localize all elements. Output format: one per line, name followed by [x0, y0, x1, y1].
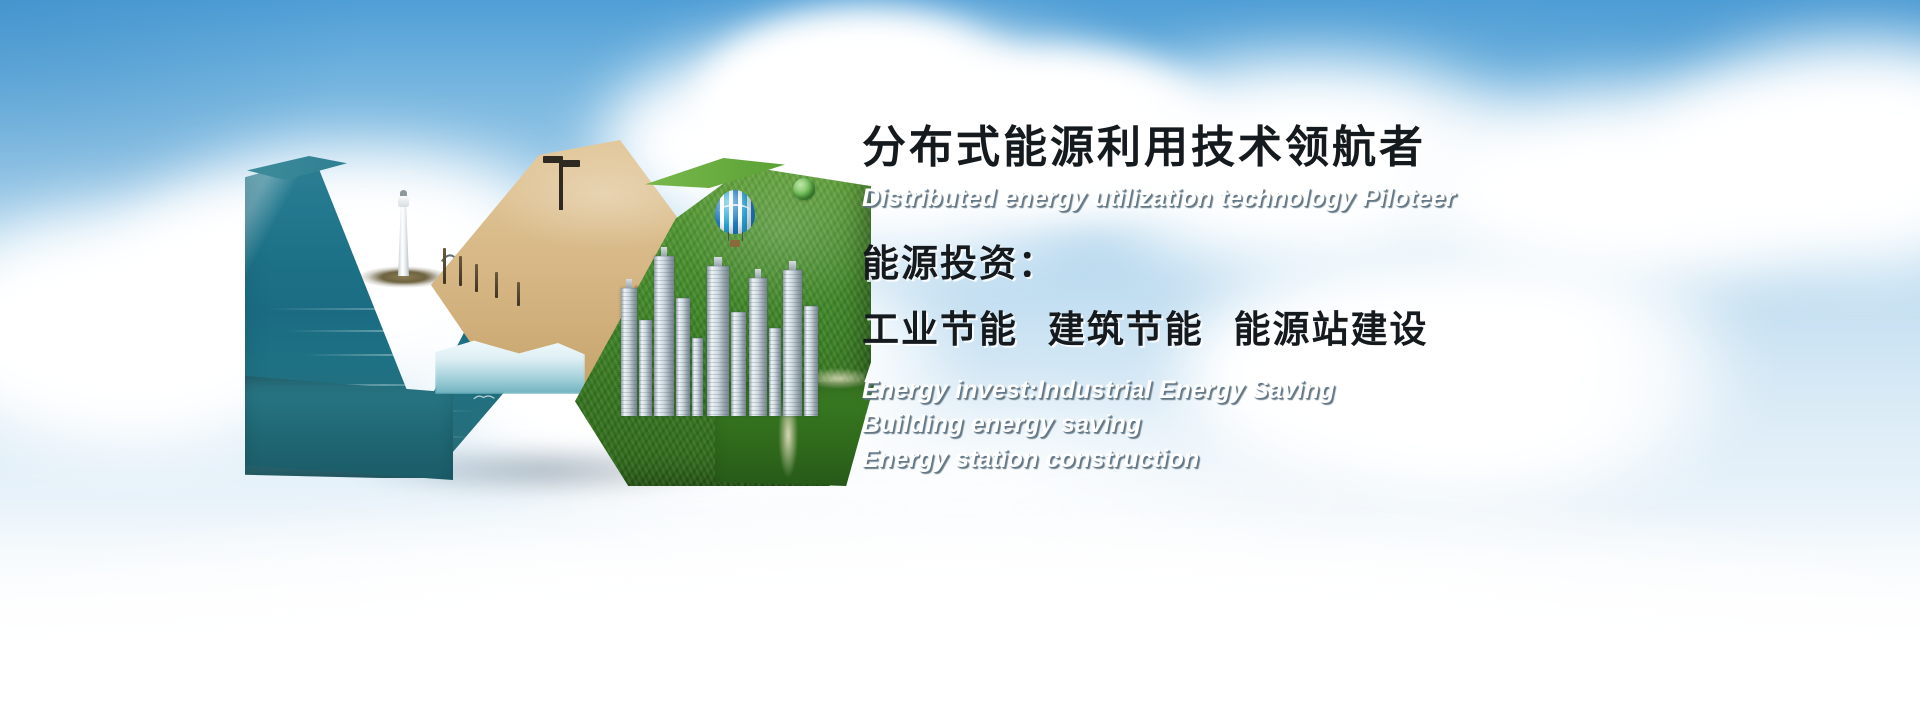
lighthouse-icon [392, 190, 414, 278]
lighthouse-cap [400, 190, 407, 196]
service-item-english: Energy station construction [862, 442, 1862, 477]
service-items-chinese: 工业节能 建筑节能 能源站建设 [862, 299, 1862, 353]
globe-icon [793, 178, 815, 200]
headline-english: Distributed energy utilization technolog… [862, 184, 1862, 213]
building [654, 256, 674, 416]
building [639, 320, 652, 416]
headline-chinese: 分布式能源利用技术领航者 [862, 125, 1862, 172]
service-item-english: Energy invest:Industrial Energy Saving [862, 373, 1862, 408]
beach-post [517, 282, 520, 306]
building [804, 306, 818, 416]
hot-air-balloon-icon [715, 190, 755, 248]
cloud-floor [0, 505, 1920, 720]
beach-post [495, 272, 498, 298]
seagull-icon [353, 182, 375, 192]
ocean-front-face [245, 376, 453, 480]
signpost-arm [561, 160, 580, 167]
signpost-icon [541, 148, 581, 210]
building [769, 328, 781, 416]
lighthouse-reflection [395, 288, 412, 332]
hero-banner: 分布式能源利用技术领航者 Distributed energy utilizat… [0, 0, 1920, 720]
banner-copy: 分布式能源利用技术领航者 Distributed energy utilizat… [862, 125, 1862, 476]
building [731, 312, 746, 416]
balloon-basket [730, 240, 740, 247]
beach-post [443, 248, 446, 284]
balloon-hoop [719, 204, 751, 220]
building [621, 288, 637, 416]
lead-chinese: 能源投资： [862, 233, 1862, 287]
service-items-english: Energy invest:Industrial Energy Saving B… [862, 373, 1862, 477]
building [749, 278, 767, 416]
building [692, 338, 703, 416]
balloon-rope [742, 232, 743, 241]
eco-letter-w-artwork [245, 140, 845, 485]
seagull-icon [400, 168, 416, 178]
building [676, 298, 690, 416]
service-item-english: Building energy saving [862, 407, 1862, 442]
signpost-arm [543, 156, 563, 163]
beach-post [475, 264, 478, 292]
beach-post [459, 256, 462, 286]
building [707, 266, 729, 416]
lighthouse-tower [398, 204, 409, 276]
balloon-rope [728, 232, 729, 241]
building [783, 270, 802, 416]
